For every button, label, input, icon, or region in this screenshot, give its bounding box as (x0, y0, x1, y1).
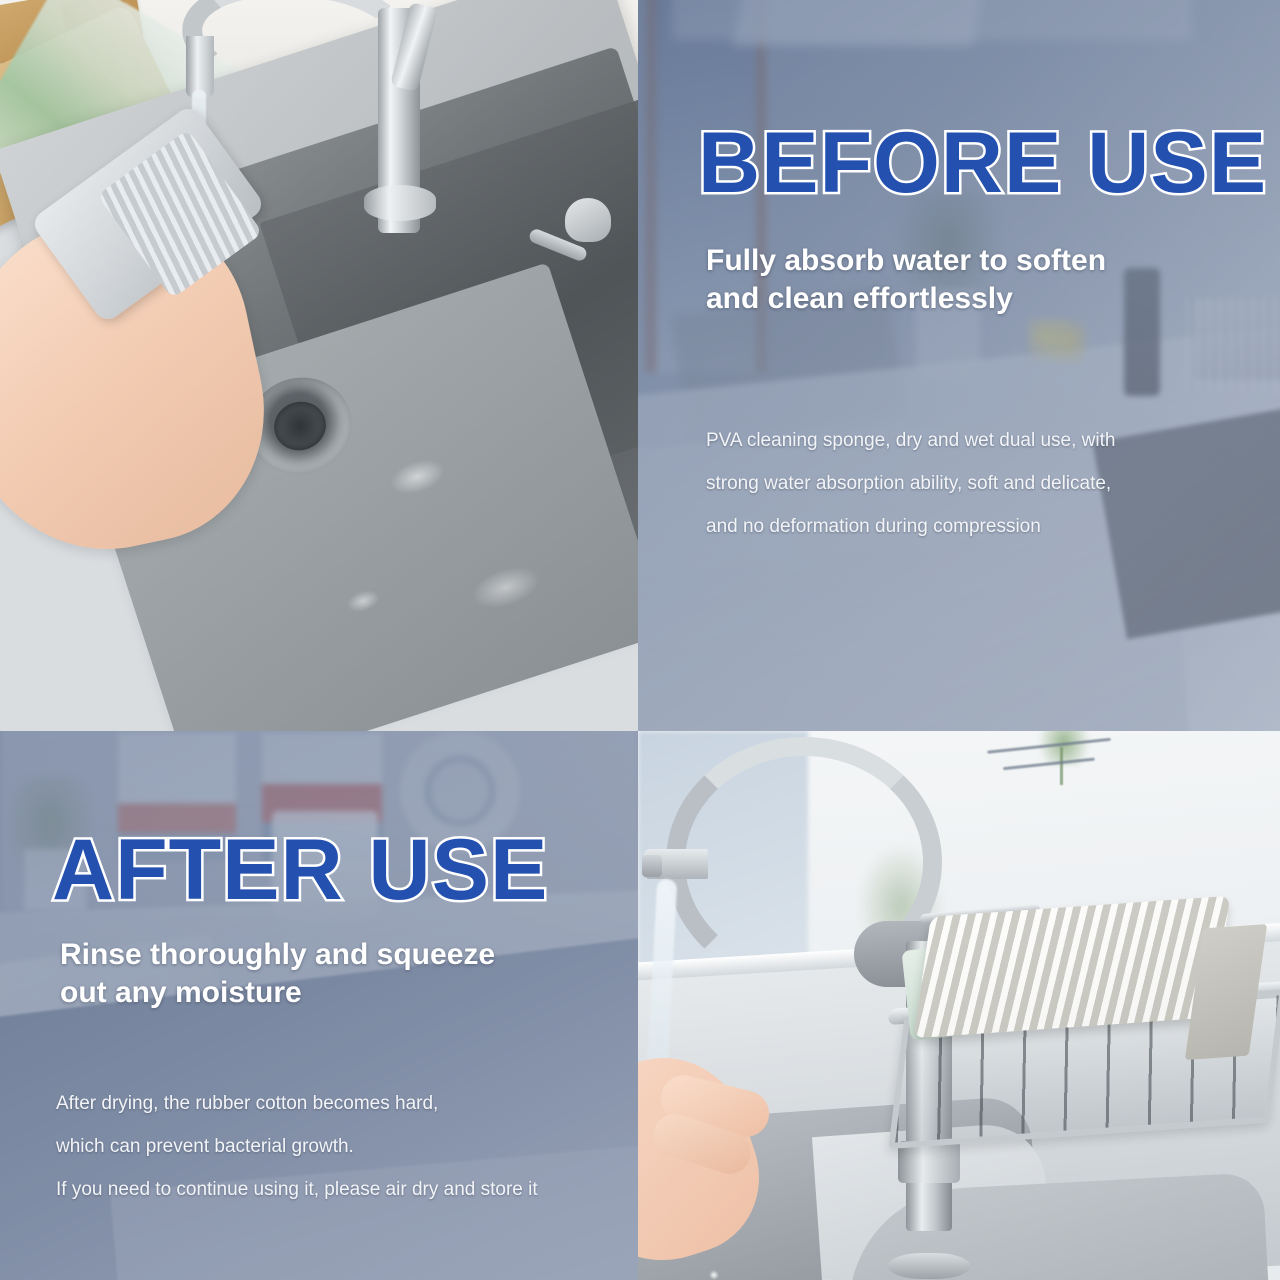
faucet-aerator (642, 855, 662, 877)
faucet-rack-photo (638, 731, 1280, 1280)
before-use-subheading-line-2: and clean effortlessly (706, 280, 1106, 318)
water-droplets (668, 1251, 898, 1280)
after-use-body-line-3: If you need to continue using it, please… (56, 1169, 538, 1212)
pva-sponge-ribs (914, 896, 1230, 1038)
wall-script-line-2 (1003, 758, 1095, 771)
faucet-base (888, 1253, 970, 1279)
sink-rinse-photo (0, 0, 638, 731)
before-use-headline: BEFORE USE (698, 120, 1267, 206)
after-use-subheading-line-2: out any moisture (60, 974, 495, 1012)
before-use-body-line-1: PVA cleaning sponge, dry and wet dual us… (706, 420, 1115, 463)
before-use-body-line-3: and no deformation during compression (706, 506, 1115, 549)
soap-dispenser-head (565, 198, 611, 242)
before-use-body-line-2: strong water absorption ability, soft an… (706, 463, 1115, 506)
after-use-body-line-2: which can prevent bacterial growth. (56, 1126, 538, 1169)
faucet-spout (186, 36, 214, 98)
before-use-subheading: Fully absorb water to soften and clean e… (706, 242, 1106, 318)
after-use-body: After drying, the rubber cotton becomes … (56, 1083, 538, 1211)
product-infographic: BEFORE USE Fully absorb water to soften … (0, 0, 1280, 1280)
before-use-body: PVA cleaning sponge, dry and wet dual us… (706, 420, 1115, 548)
faucet-base (364, 185, 436, 221)
after-use-subheading-line-1: Rinse thoroughly and squeeze (60, 936, 495, 974)
after-use-headline: AFTER USE (52, 827, 548, 913)
before-use-subheading-line-1: Fully absorb water to soften (706, 242, 1106, 280)
wall-script-text (979, 735, 1146, 831)
before-use-panel: BEFORE USE Fully absorb water to soften … (638, 0, 1280, 731)
after-use-panel: AFTER USE Rinse thoroughly and squeeze o… (0, 731, 638, 1280)
blue-overlay (638, 0, 1280, 731)
after-use-subheading: Rinse thoroughly and squeeze out any moi… (60, 936, 495, 1012)
after-use-body-line-1: After drying, the rubber cotton becomes … (56, 1083, 538, 1126)
